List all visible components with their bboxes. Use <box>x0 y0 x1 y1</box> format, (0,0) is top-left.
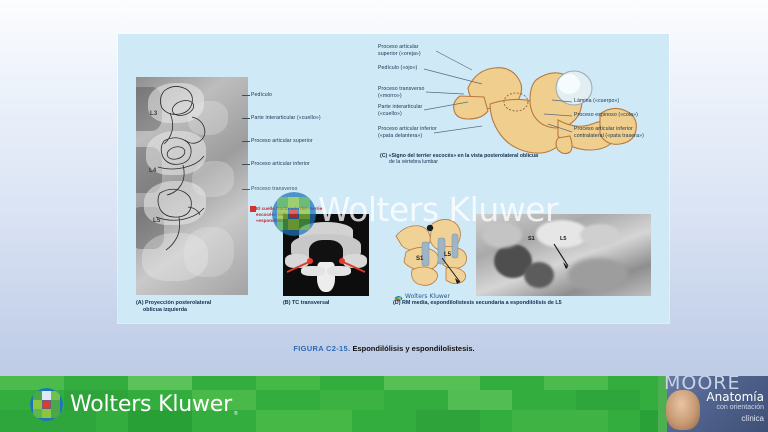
panel-a-caption-line2: oblicua izquierda <box>143 307 211 314</box>
panel-c-caption-rest: de la vértebra lumbar <box>389 159 538 165</box>
mri-label-s1: S1 <box>528 236 535 242</box>
svg-text:L5: L5 <box>444 252 452 258</box>
label-parte-interarticular: Parte interarticular («cuello») <box>251 115 321 121</box>
panel-d-spine-diagram: S1 L5 <box>394 212 470 296</box>
label-proceso-articular-superior-oreja: Proceso articular superior («oreja») <box>378 44 438 58</box>
panel-a-xray: L3 L4 L5 <box>136 77 248 295</box>
panel-d-mri: S1 L5 <box>476 214 651 296</box>
book-portrait-image <box>666 390 700 430</box>
label-proceso-articular-inferior: Proceso articular inferior <box>251 161 310 167</box>
label-proceso-transverso: Proceso transverso <box>251 186 298 192</box>
panel-a-caption-line1: (A) Proyección posterolateral <box>136 300 211 307</box>
vertebra-label-l5: L5 <box>153 218 160 224</box>
label-lamina-cuerpo: Lámina («cuerpo») <box>574 98 660 105</box>
panel-c-diagram: Proceso articular superior («oreja») Ped… <box>376 40 666 170</box>
slide: L3 L4 L5 Pedículo Parte interarticular (… <box>0 0 768 432</box>
label-pediculo: Pedículo <box>251 92 272 98</box>
mri-arrow <box>476 214 651 296</box>
label-parte-interarticular-cuello: Parte interarticular («cuello») <box>378 104 436 118</box>
book-subtitle-line2: con orientación <box>717 404 764 411</box>
inline-logo-text: Wolters Kluwer <box>405 293 450 300</box>
panel-b-ct <box>283 214 369 296</box>
label-pediculo-ojo: Pedículo («ojo») <box>378 65 438 72</box>
panel-c-caption: (C) «Signo del terrier escocés» en la vi… <box>380 153 538 165</box>
figure-caption: FIGURA C2-15. Espondilólisis y espondilo… <box>0 344 768 353</box>
sacrum-l5-illustration: S1 L5 <box>394 212 470 296</box>
figure-title: Espondilólisis y espondilolistesis. <box>352 344 474 353</box>
figure-number: FIGURA C2-15. <box>293 344 350 353</box>
panel-a-caption: (A) Proyección posterolateral oblicua iz… <box>136 300 211 315</box>
registered-mark: ® <box>234 411 238 417</box>
book-cover-thumbnail[interactable]: MOORE Anatomía con orientación clínica <box>658 376 768 432</box>
figure-panel: L3 L4 L5 Pedículo Parte interarticular (… <box>118 34 669 323</box>
panel-a-leader-labels: Pedículo Parte interarticular («cuello»)… <box>251 84 376 224</box>
scottie-dog-outline <box>136 77 248 295</box>
wolters-kluwer-globe-icon <box>30 388 63 421</box>
label-proceso-transverso-morro: Proceso transverso («morro») <box>378 86 436 100</box>
label-proceso-articular-inferior-contralateral: Proceso articular inferior contralateral… <box>574 126 654 140</box>
label-proceso-articular-superior: Proceso articular superior <box>251 138 313 144</box>
wolters-kluwer-wordmark: Wolters Kluwer <box>70 392 232 417</box>
panel-b-caption: (B) TC transversal <box>283 300 329 307</box>
vertebra-label-l4: L4 <box>149 168 156 174</box>
book-subtitle: Anatomía <box>706 390 764 404</box>
footer-brand-bar: Wolters Kluwer ® MOORE Anatomía con orie… <box>0 376 768 432</box>
wolters-kluwer-logo[interactable]: Wolters Kluwer ® <box>30 388 238 421</box>
ct-red-arrows <box>283 214 369 296</box>
vertebra-label-l3: L3 <box>150 111 157 117</box>
label-proceso-espinoso-cola: Proceso espinoso («cola») <box>574 112 662 119</box>
label-proceso-articular-inferior-pata-delantera: Proceso articular inferior («pata delant… <box>378 126 440 140</box>
svg-text:S1: S1 <box>416 256 424 262</box>
book-subtitle-line3: clínica <box>741 414 764 423</box>
mri-label-l5: L5 <box>560 236 566 242</box>
panel-d-caption: (D) RM media, espondilolistesis secundar… <box>393 300 562 307</box>
